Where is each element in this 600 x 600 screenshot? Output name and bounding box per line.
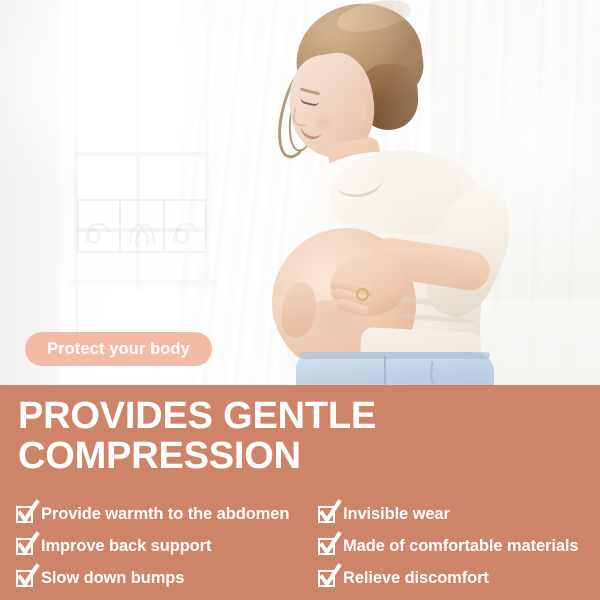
feature-item: Slow down bumps <box>16 562 289 594</box>
checkbox-checked-icon <box>16 570 33 587</box>
feature-checklist: Provide warmth to the abdomen Improve ba… <box>0 498 600 598</box>
nose <box>292 107 309 126</box>
feature-label: Relieve discomfort <box>343 569 489 588</box>
feature-label: Made of comfortable materials <box>343 537 579 556</box>
feature-label: Invisible wear <box>343 505 450 524</box>
protect-your-body-badge: Protect your body <box>25 332 212 366</box>
checkbox-checked-icon <box>318 506 335 523</box>
feature-item: Invisible wear <box>318 498 579 530</box>
checkbox-checked-icon <box>318 570 335 587</box>
feature-item: Provide warmth to the abdomen <box>16 498 289 530</box>
product-feature-banner: Protect your body PROVIDES GENTLE COMPRE… <box>0 0 600 600</box>
headline: PROVIDES GENTLE COMPRESSION <box>18 396 588 476</box>
feature-label: Provide warmth to the abdomen <box>41 505 289 524</box>
feature-column-right: Invisible wear Made of comfortable mater… <box>318 498 579 594</box>
checkbox-checked-icon <box>16 506 33 523</box>
feature-label: Slow down bumps <box>41 569 184 588</box>
feature-column-left: Provide warmth to the abdomen Improve ba… <box>16 498 289 594</box>
feature-item: Relieve discomfort <box>318 562 579 594</box>
feature-item: Made of comfortable materials <box>318 530 579 562</box>
feature-label: Improve back support <box>41 537 211 556</box>
checkbox-checked-icon <box>318 538 335 555</box>
jeans-waistband <box>300 352 490 359</box>
checkbox-checked-icon <box>16 538 33 555</box>
feature-item: Improve back support <box>16 530 289 562</box>
